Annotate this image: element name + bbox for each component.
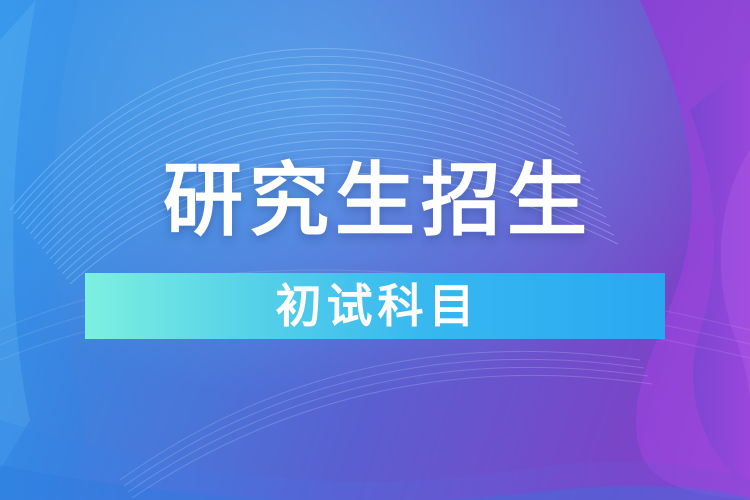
subtitle-highlight-bar: 初试科目 — [85, 273, 665, 339]
banner-title: 研究生招生 — [157, 161, 593, 241]
banner-subtitle: 初试科目 — [271, 283, 480, 329]
banner-content: 研究生招生 初试科目 — [0, 0, 750, 500]
banner-image: 研究生招生 初试科目 — [0, 0, 750, 500]
